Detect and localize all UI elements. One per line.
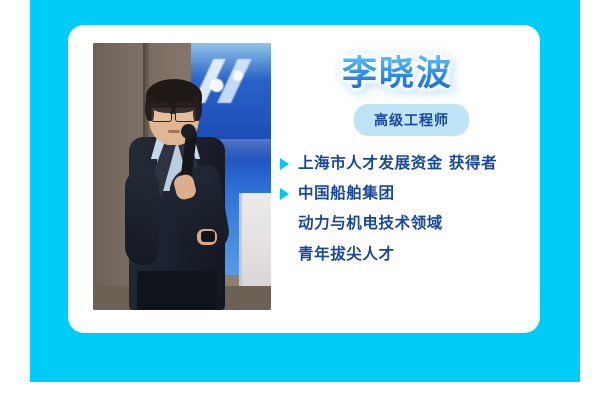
title-badge: 高级工程师 — [354, 104, 469, 136]
eyebrow-left — [152, 103, 169, 106]
poster-stage: 李晓波 高级工程师 上海市人才发展资金 获得者 中国船舶集团 动力与机电技术领域 — [0, 0, 607, 410]
credential-item: 中国船舶集团 — [280, 184, 530, 203]
credential-text: 动力与机电技术领域 — [298, 214, 443, 233]
trousers — [137, 271, 217, 310]
credential-text: 青年拔尖人才 — [298, 245, 395, 264]
podium — [239, 193, 271, 289]
microphone-head — [181, 124, 196, 139]
speaker-photo — [93, 43, 271, 310]
credential-text: 上海市人才发展资金 获得者 — [298, 154, 497, 173]
bullet-triangle-icon — [280, 188, 289, 200]
speaker-figure — [111, 71, 241, 310]
presentation-clicker — [201, 231, 215, 242]
arm-left — [125, 169, 159, 265]
speaker-name: 李晓波 — [280, 55, 530, 94]
bullet-triangle-icon — [280, 158, 289, 170]
glasses-bridge — [170, 112, 175, 114]
glasses-right-lens — [175, 107, 196, 122]
credential-item: 动力与机电技术领域 — [280, 214, 530, 233]
credential-text: 中国船舶集团 — [298, 184, 395, 203]
profile-card: 李晓波 高级工程师 上海市人才发展资金 获得者 中国船舶集团 动力与机电技术领域 — [68, 25, 540, 333]
credentials-list: 上海市人才发展资金 获得者 中国船舶集团 动力与机电技术领域 青年拔尖人才 — [280, 154, 530, 265]
mouth — [168, 130, 180, 133]
eyebrow-right — [176, 103, 193, 106]
profile-info: 李晓波 高级工程师 上海市人才发展资金 获得者 中国船舶集团 动力与机电技术领域 — [280, 55, 530, 310]
credential-item: 青年拔尖人才 — [280, 245, 530, 264]
credential-item: 上海市人才发展资金 获得者 — [280, 154, 530, 173]
glasses-left-lens — [151, 107, 172, 122]
